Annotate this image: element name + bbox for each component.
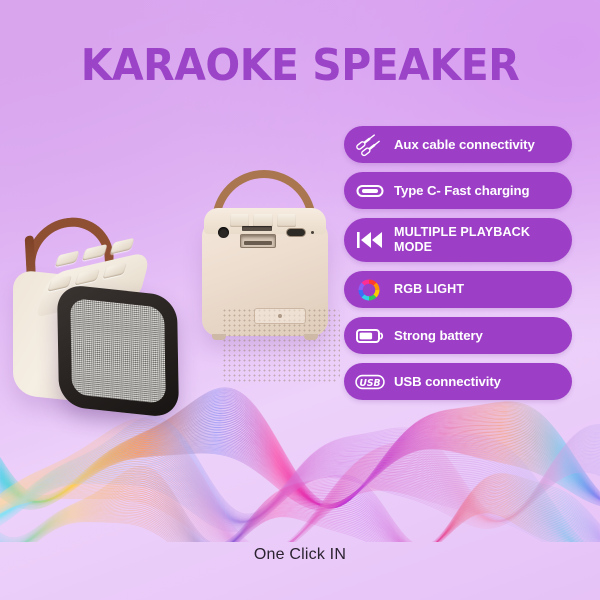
- speaker-bezel: [57, 284, 179, 419]
- speaker-grille: [70, 298, 166, 404]
- feature-badge-label: USB connectivity: [394, 374, 501, 389]
- karaoke-speaker-back: [186, 168, 346, 354]
- usb-logo-icon: USB: [355, 369, 385, 395]
- rewind-icon: [355, 227, 385, 253]
- aux-jack-port: [218, 227, 229, 238]
- battery-icon: [355, 323, 385, 349]
- led-indicator: [311, 231, 314, 234]
- poster-canvas: KARAOKE SPEAKER: [0, 0, 600, 600]
- speaker-feet: [210, 334, 320, 340]
- feature-badge-4[interactable]: RGB LIGHT: [344, 271, 572, 308]
- feature-badge-3[interactable]: MULTIPLE PLAYBACK MODE: [344, 218, 572, 262]
- feature-badge-6[interactable]: USBUSB connectivity: [344, 363, 572, 400]
- usb-a-port: [240, 234, 276, 248]
- svg-text:USB: USB: [359, 378, 380, 389]
- feature-badge-label: Strong battery: [394, 328, 483, 343]
- usb-c-port: [286, 228, 306, 237]
- control-button: [75, 268, 100, 285]
- feature-badge-label: Aux cable connectivity: [394, 137, 535, 152]
- speaker-label-plate: [254, 308, 306, 324]
- microsd-slot: [242, 226, 272, 231]
- control-button: [48, 275, 73, 292]
- usb-c-port-icon: [355, 178, 385, 204]
- speaker-foot: [304, 334, 318, 340]
- page-title: KARAOKE SPEAKER: [21, 40, 579, 91]
- feature-badge-label: RGB LIGHT: [394, 282, 464, 297]
- aux-cable-icon: [355, 132, 385, 158]
- speaker-port-panel: [218, 224, 314, 250]
- feature-badge-label: MULTIPLE PLAYBACK MODE: [394, 225, 560, 254]
- feature-badge-list: Aux cable connectivityType C- Fast charg…: [344, 126, 572, 400]
- feature-badge-5[interactable]: Strong battery: [344, 317, 572, 354]
- feature-badge-2[interactable]: Type C- Fast charging: [344, 172, 572, 209]
- rgb-ring-icon: [355, 277, 385, 303]
- feature-badge-1[interactable]: Aux cable connectivity: [344, 126, 572, 163]
- footer-brand: One Click IN: [0, 546, 600, 564]
- speaker-foot: [212, 334, 226, 340]
- feature-badge-label: Type C- Fast charging: [394, 183, 529, 198]
